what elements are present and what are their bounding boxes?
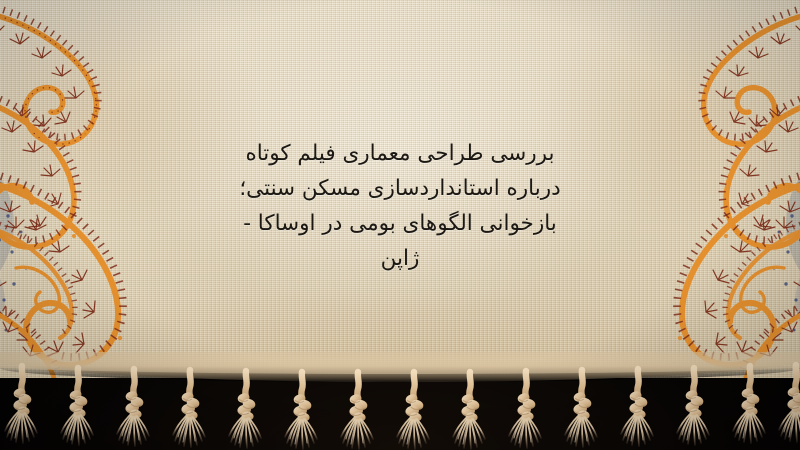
- title-line-1: بررسی طراحی معماری فیلم کوتاه: [200, 136, 600, 171]
- title-line-4: ژاپن: [200, 241, 600, 276]
- title-line-3: بازخوانی الگوهای بومی در اوساکا -: [200, 206, 600, 241]
- title-line-2: درباره استانداردسازی مسکن سنتی؛: [200, 171, 600, 206]
- slide-title: بررسی طراحی معماری فیلم کوتاه درباره است…: [200, 136, 600, 276]
- knotted-tassel-fringe: [0, 352, 800, 450]
- tassel-row: [5, 365, 800, 449]
- title-slide: بررسی طراحی معماری فیلم کوتاه درباره است…: [0, 0, 800, 450]
